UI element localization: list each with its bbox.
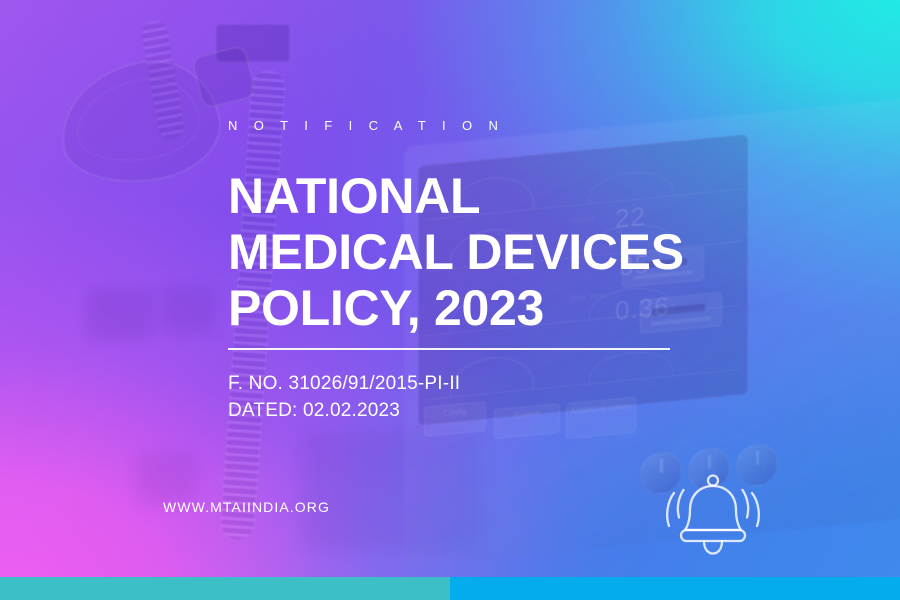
dated-text: DATED: 02.02.2023 (228, 397, 460, 424)
bottom-bar-right-segment (450, 577, 900, 600)
website-url: WWW.MTAIINDIA.ORG (163, 499, 330, 515)
bottom-bar-left-segment (0, 577, 450, 600)
bell-icon (655, 468, 771, 560)
bottom-accent-bar (0, 577, 900, 600)
document-reference: F. NO. 31026/91/2015-PI-II DATED: 02.02.… (228, 370, 460, 424)
notification-eyebrow-label: N O T I F I C A T I O N (228, 118, 504, 133)
banner-content: N O T I F I C A T I O N NATIONAL MEDICAL… (0, 0, 900, 600)
file-number-text: F. NO. 31026/91/2015-PI-II (228, 370, 460, 397)
title-divider (228, 348, 670, 350)
page-title: NATIONAL MEDICAL DEVICES POLICY, 2023 (228, 168, 684, 336)
notification-banner: cmH2O 22 l/min (bl min) 35 MVe l/min 0.3… (0, 0, 900, 600)
